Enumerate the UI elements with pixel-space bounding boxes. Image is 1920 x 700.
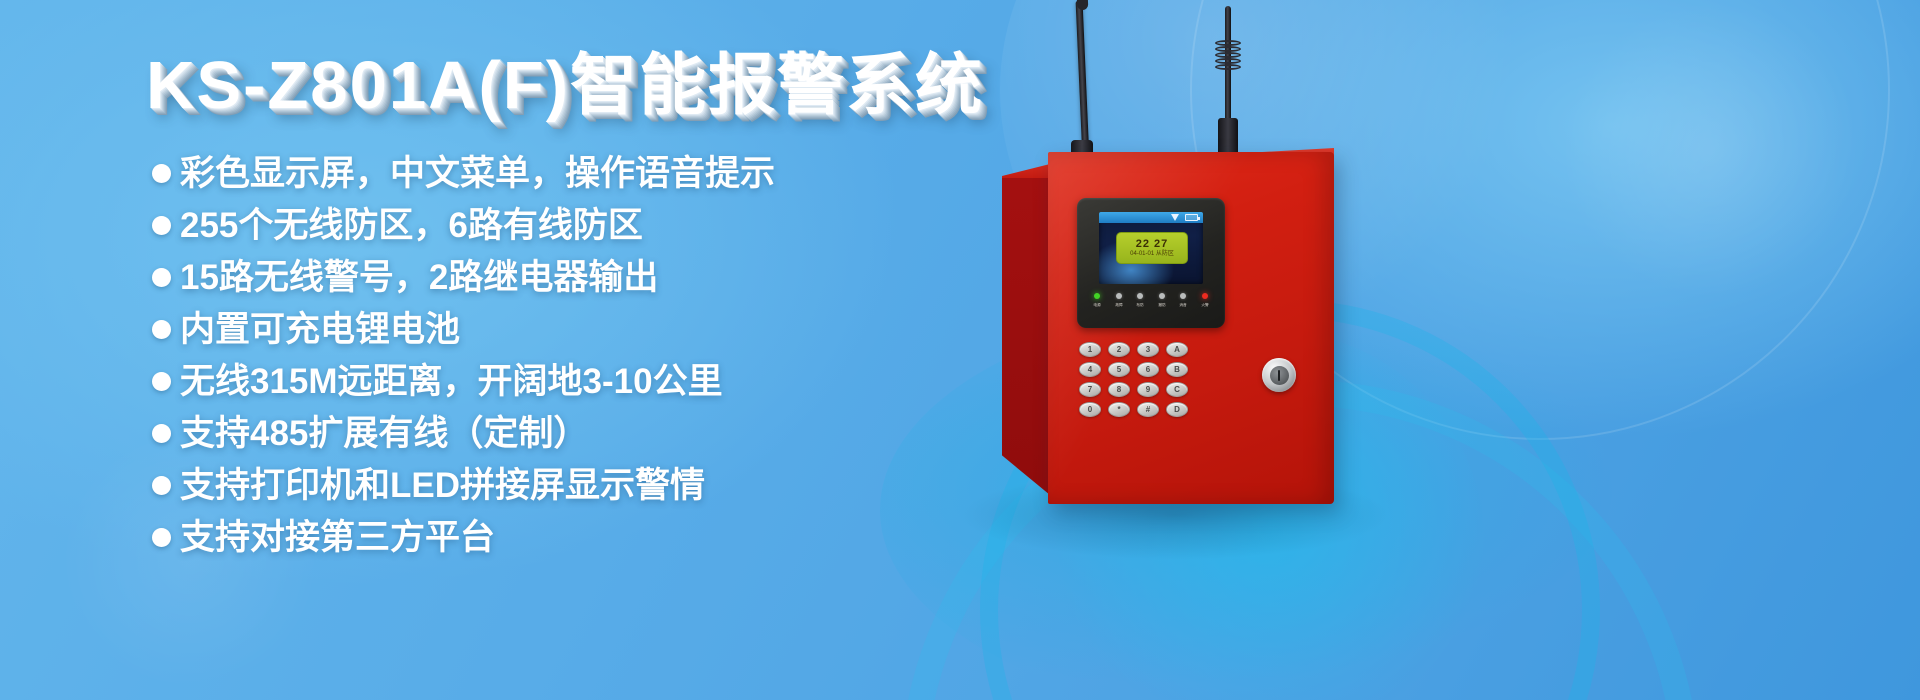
led-icon	[1202, 293, 1208, 299]
feature-text: 彩色显示屏，中文菜单，操作语音提示	[180, 152, 775, 196]
keypad-key[interactable]: D	[1166, 402, 1188, 417]
battery-icon	[1185, 214, 1198, 221]
indicator-label: 火警	[1201, 302, 1208, 308]
keypad-key[interactable]: 1	[1079, 342, 1101, 357]
indicator-disarm: 撤防	[1158, 293, 1166, 308]
bullet-icon	[152, 164, 171, 183]
keypad-key[interactable]: 4	[1079, 362, 1101, 377]
led-icon	[1094, 293, 1100, 299]
bullet-icon	[152, 476, 171, 495]
list-item: 无线315M远距离，开阔地3-10公里	[152, 360, 775, 404]
list-item: 内置可充电锂电池	[152, 308, 775, 352]
key-lock-slot	[1278, 370, 1280, 381]
product-image-alarm-panel: 22 27 04-01-01 从防区 电源 故障	[940, 0, 1500, 700]
enclosure-side	[1002, 165, 1050, 495]
keypad-key[interactable]: 7	[1079, 382, 1101, 397]
feature-list: 彩色显示屏，中文菜单，操作语音提示 255个无线防区，6路有线防区 15路无线警…	[152, 152, 775, 568]
indicator-mute: 消音	[1179, 293, 1187, 308]
keypad-key[interactable]: A	[1166, 342, 1188, 357]
keypad-key[interactable]: 6	[1137, 362, 1159, 377]
indicator-fault: 故障	[1115, 293, 1123, 308]
feature-text: 15路无线警号，2路继电器输出	[180, 256, 658, 300]
keypad-key[interactable]: 8	[1108, 382, 1130, 397]
key-lock-icon[interactable]	[1262, 358, 1296, 392]
indicator-power: 电源	[1093, 293, 1101, 308]
list-item: 15路无线警号，2路继电器输出	[152, 256, 775, 300]
indicator-label: 故障	[1115, 302, 1122, 308]
led-icon	[1180, 293, 1186, 299]
indicator-fire-alarm: 火警	[1201, 293, 1209, 308]
antenna-icon	[1076, 0, 1090, 160]
led-icon	[1159, 293, 1165, 299]
bullet-icon	[152, 372, 171, 391]
bullet-icon	[152, 268, 171, 287]
feature-text: 支持打印机和LED拼接屏显示警情	[180, 464, 705, 508]
feature-text: 内置可充电锂电池	[180, 308, 460, 352]
feature-text: 255个无线防区，6路有线防区	[180, 204, 643, 248]
feature-text: 支持对接第三方平台	[180, 516, 495, 560]
indicator-arm: 布防	[1136, 293, 1144, 308]
list-item: 支持485扩展有线（定制）	[152, 412, 775, 456]
lcd-status-text: 从防区	[1156, 251, 1174, 257]
page-title: KS-Z801A(F)智能报警系统	[146, 52, 984, 119]
keypad-key[interactable]: 3	[1137, 342, 1159, 357]
indicator-label: 电源	[1093, 302, 1100, 308]
keypad-key[interactable]: 0	[1079, 402, 1101, 417]
keypad-key[interactable]: C	[1166, 382, 1188, 397]
background-circle-3	[1560, 0, 1860, 300]
lcd-info-card: 22 27 04-01-01 从防区	[1116, 232, 1188, 264]
list-item: 255个无线防区，6路有线防区	[152, 204, 775, 248]
lcd-date-status: 04-01-01 从防区	[1130, 250, 1174, 258]
list-item: 彩色显示屏，中文菜单，操作语音提示	[152, 152, 775, 196]
keypad-key[interactable]: 5	[1108, 362, 1130, 377]
key-lock-core	[1270, 366, 1289, 385]
title-block: KS-Z801A(F)智能报警系统	[146, 52, 984, 119]
control-panel: 22 27 04-01-01 从防区 电源 故障	[1077, 198, 1225, 328]
signal-icon	[1171, 214, 1180, 221]
bullet-icon	[152, 216, 171, 235]
keypad-key[interactable]: 9	[1137, 382, 1159, 397]
lcd-time: 22 27	[1136, 238, 1169, 250]
indicator-label: 布防	[1137, 302, 1144, 308]
keypad[interactable]: 1 2 3 A 4 5 6 B 7 8 9 C 0 * # D	[1079, 342, 1190, 417]
feature-text: 无线315M远距离，开阔地3-10公里	[180, 360, 723, 404]
antenna-tip-icon	[1077, 0, 1089, 10]
indicator-label: 撤防	[1158, 302, 1165, 308]
antenna-coil-windings-icon	[1215, 40, 1241, 70]
keypad-key[interactable]: *	[1108, 402, 1130, 417]
list-item: 支持打印机和LED拼接屏显示警情	[152, 464, 775, 508]
led-icon	[1116, 293, 1122, 299]
bullet-icon	[152, 424, 171, 443]
bullet-icon	[152, 320, 171, 339]
lcd-status-bar	[1099, 212, 1203, 223]
keypad-key[interactable]: B	[1166, 362, 1188, 377]
lcd-date: 04-01-01	[1130, 251, 1154, 257]
keypad-key[interactable]: #	[1137, 402, 1159, 417]
product-banner: KS-Z801A(F)智能报警系统 彩色显示屏，中文菜单，操作语音提示 255个…	[0, 0, 1920, 700]
list-item: 支持对接第三方平台	[152, 516, 775, 560]
lcd-screen[interactable]: 22 27 04-01-01 从防区	[1099, 212, 1203, 284]
keypad-key[interactable]: 2	[1108, 342, 1130, 357]
indicator-led-row: 电源 故障 布防 撤防 消音	[1093, 293, 1209, 308]
indicator-label: 消音	[1180, 302, 1187, 308]
feature-text: 支持485扩展有线（定制）	[180, 412, 588, 456]
bullet-icon	[152, 528, 171, 547]
led-icon	[1137, 293, 1143, 299]
